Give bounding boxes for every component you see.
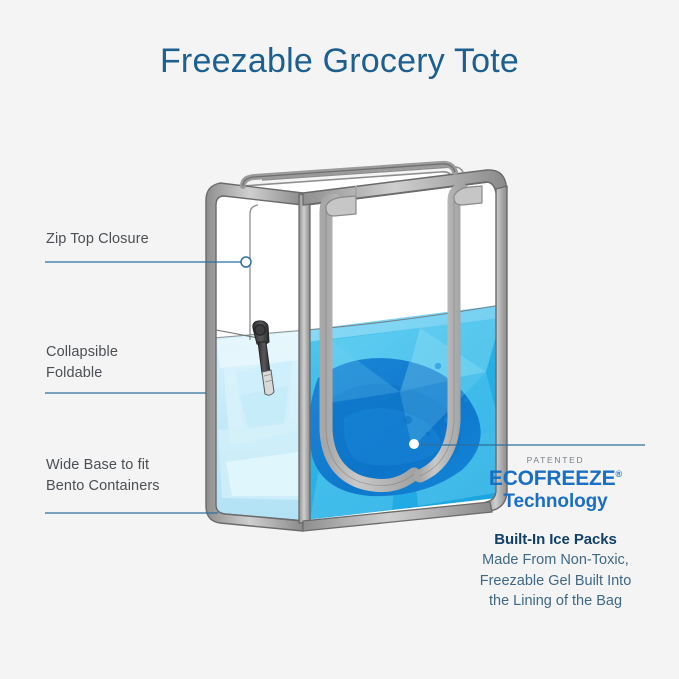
infographic-page: Freezable Grocery Tote — [0, 0, 679, 679]
ice-packs-body: Made From Non-Toxic, Freezable Gel Built… — [432, 550, 679, 612]
ecofreeze-brand-block: PATENTED ECOFREEZE® Technology — [432, 455, 679, 513]
callout-label-zip-top-closure: Zip Top Closure — [46, 229, 149, 250]
leader-marker-zip — [241, 257, 251, 267]
ecofreeze-wordmark: ECOFREEZE® — [432, 468, 679, 491]
callout-label-collapsible-foldable: Collapsible Foldable — [46, 342, 118, 383]
registered-mark: ® — [615, 469, 622, 479]
patented-label: PATENTED — [432, 455, 679, 465]
ice-packs-block: Built-In Ice Packs Made From Non-Toxic, … — [432, 531, 679, 612]
technology-label: Technology — [432, 491, 679, 513]
leader-marker-ecofreeze — [409, 439, 419, 449]
ice-packs-heading: Built-In Ice Packs — [432, 531, 679, 548]
ecofreeze-name: ECOFREEZE — [489, 467, 616, 490]
callout-label-wide-base: Wide Base to fit Bento Containers — [46, 455, 160, 496]
